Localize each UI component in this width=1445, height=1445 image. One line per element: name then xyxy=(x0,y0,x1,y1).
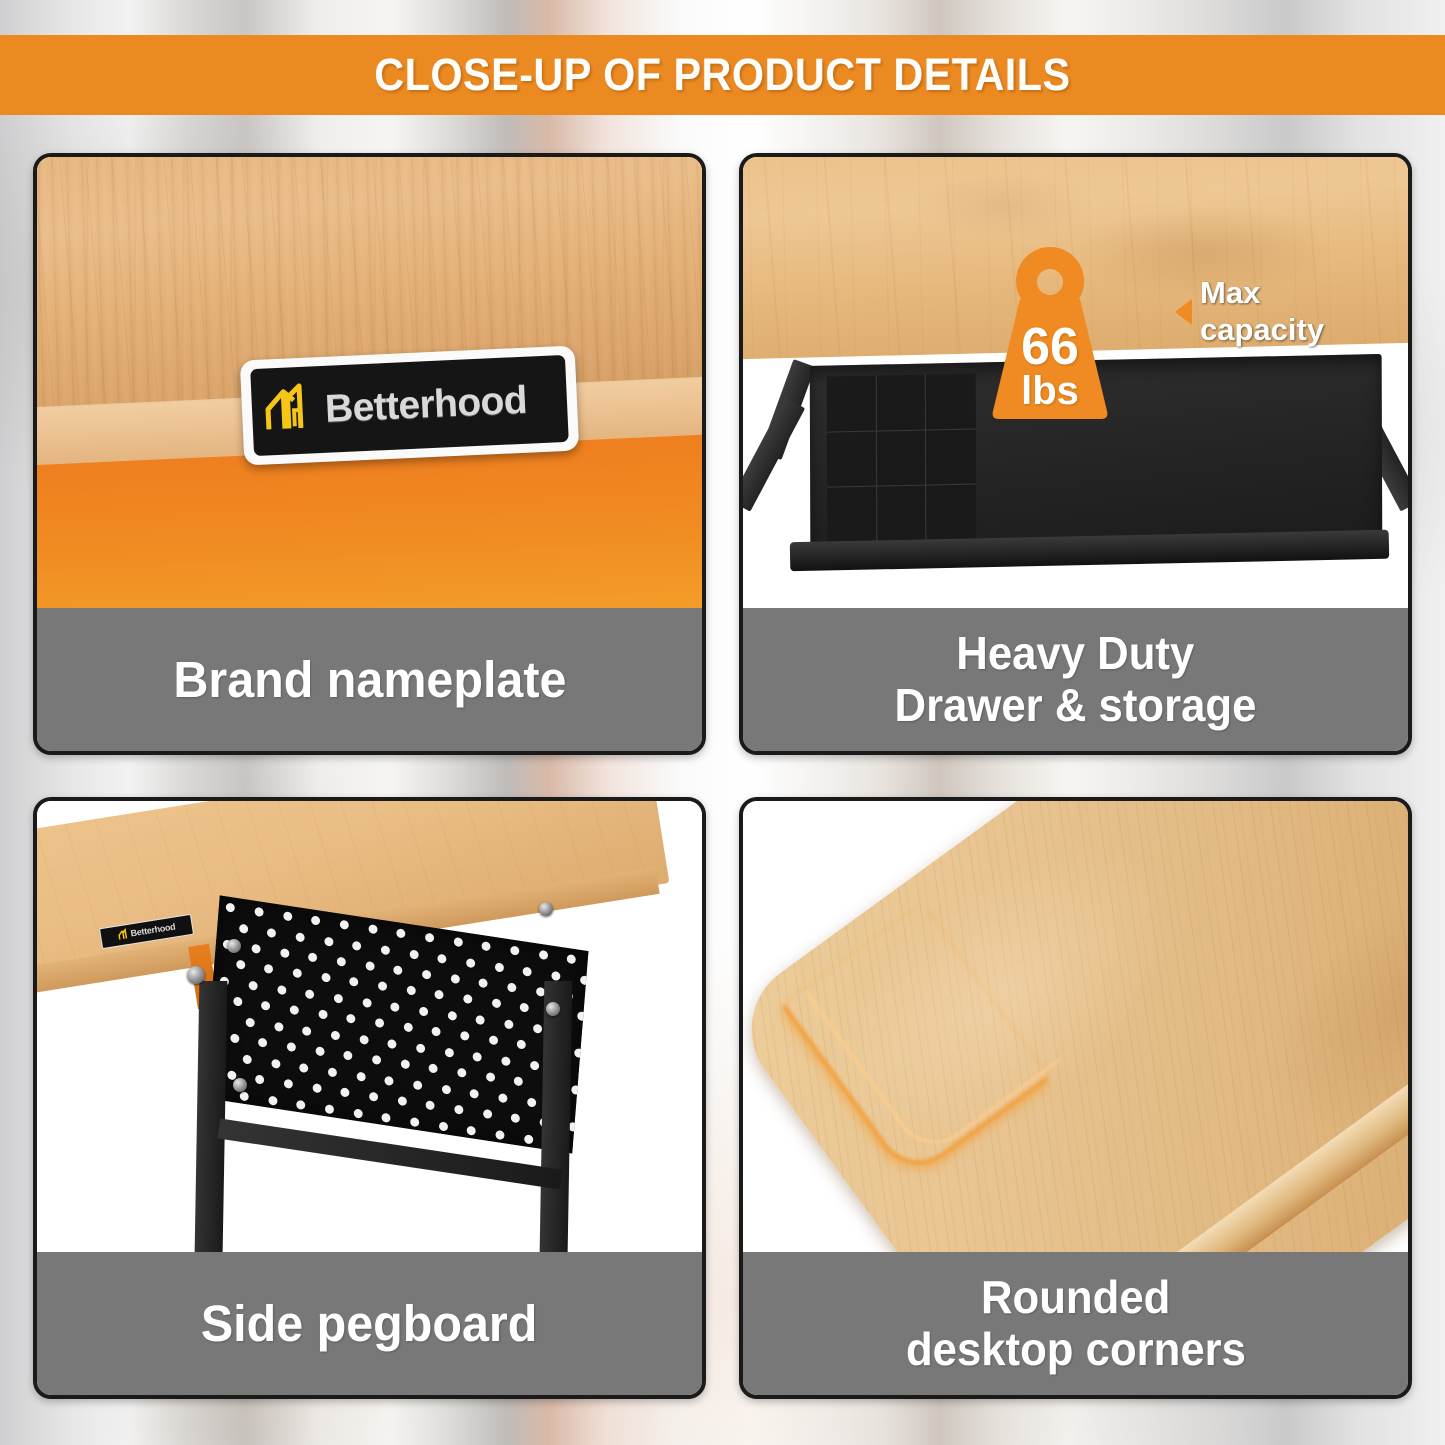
pegboard-hole xyxy=(254,907,264,917)
pegboard-hole xyxy=(365,961,375,971)
pegboard-hole xyxy=(318,1009,328,1019)
pegboard-hole xyxy=(328,1067,338,1077)
pegboard-hole xyxy=(331,1030,341,1040)
pegboard-hole xyxy=(315,1046,325,1056)
pegboard-hole xyxy=(579,974,589,984)
pegboard-hole xyxy=(339,920,349,930)
pegboard-hole xyxy=(251,943,261,953)
hex-bolt-icon xyxy=(187,966,205,984)
pegboard-hole xyxy=(453,937,463,947)
pegboard-hole xyxy=(410,1116,420,1126)
pegboard-hole xyxy=(283,1079,293,1089)
pegboard-hole xyxy=(346,1014,356,1024)
pegboard-hole xyxy=(478,978,488,988)
pegboard-hole xyxy=(406,985,416,995)
pegboard-hole xyxy=(349,977,359,987)
drawer-compartments xyxy=(826,374,975,544)
pegboard-hole xyxy=(390,1002,400,1012)
pegboard-hole xyxy=(283,911,293,921)
max-capacity-callout: Max capacity xyxy=(1175,275,1324,348)
pegboard-hole xyxy=(494,962,504,972)
pegboard-hole xyxy=(431,1027,441,1037)
panel-pegboard-caption: Side pegboard xyxy=(37,1252,702,1395)
pegboard-hole xyxy=(258,1038,268,1048)
pegboard-hole xyxy=(267,927,277,937)
pegboard-hole xyxy=(511,1113,521,1123)
pegboard-hole xyxy=(369,1091,379,1101)
pegboard-hole xyxy=(416,1043,426,1053)
pegboard-hole xyxy=(308,952,318,962)
pegboard-hole xyxy=(526,1097,536,1107)
pegboard-hole xyxy=(510,945,520,955)
pegboard-hole xyxy=(491,998,501,1008)
pegboard-hole xyxy=(311,915,321,925)
page-title: CLOSE-UP OF PRODUCT DETAILS xyxy=(374,49,1070,101)
pegboard-hole xyxy=(230,1033,240,1043)
pegboard-hole xyxy=(280,948,290,958)
pegboard-hole xyxy=(324,936,334,946)
pegboard-hole xyxy=(573,1048,583,1058)
weight-icon: 66 lbs xyxy=(975,243,1125,423)
max-capacity-line-2: capacity xyxy=(1200,312,1324,349)
pegboard-hole xyxy=(289,1005,299,1015)
pegboard-hole xyxy=(239,1091,249,1101)
house-building-icon xyxy=(263,379,318,442)
pegboard-hole xyxy=(296,1099,306,1109)
bolt-icon xyxy=(546,1002,560,1016)
pegboard-hole xyxy=(419,1006,429,1016)
pegboard-hole xyxy=(517,1039,527,1049)
pegboard-hole xyxy=(466,957,476,967)
nameplate-inner: Betterhood xyxy=(250,355,569,456)
pegboard-hole xyxy=(336,956,346,966)
pegboard-hole xyxy=(362,997,372,1007)
caption-line: Heavy Duty xyxy=(956,629,1194,679)
panel-drawer-caption: Heavy Duty Drawer & storage xyxy=(743,608,1408,751)
pegboard-hole xyxy=(356,1071,366,1081)
pegboard-hole xyxy=(472,1051,482,1061)
pegboard-hole xyxy=(277,985,287,995)
panel-side-pegboard: Betterhood Side pegboard xyxy=(33,797,706,1399)
pegboard-hole xyxy=(271,1058,281,1068)
pegboard-hole xyxy=(413,1080,423,1090)
pegboard-hole xyxy=(463,994,473,1004)
brand-nameplate-plate: Betterhood xyxy=(240,345,579,465)
pegboard-hole xyxy=(485,1072,495,1082)
pegboard-hole xyxy=(368,924,378,934)
pegboard-hole xyxy=(514,1076,524,1086)
pegboard-hole xyxy=(248,980,258,990)
pegboard-hole xyxy=(428,1063,438,1073)
pegboard-hole xyxy=(532,1023,542,1033)
bolt-icon xyxy=(227,939,241,953)
pegboard-hole xyxy=(538,950,548,960)
pegboard-hole xyxy=(498,1092,508,1102)
pegboard-hole xyxy=(333,993,343,1003)
pegboard-hole xyxy=(397,1096,407,1106)
pegboard-hole xyxy=(482,1109,492,1119)
pegboard-hole xyxy=(501,1056,511,1066)
panel-rounded-corners: Rounded desktop corners xyxy=(739,797,1412,1399)
pegboard-hole xyxy=(245,1017,255,1027)
pegboard-hole xyxy=(522,966,532,976)
pegboard-hole xyxy=(409,949,419,959)
pegboard-hole xyxy=(457,1068,467,1078)
pegboard-hole xyxy=(226,902,236,912)
pegboard-panel xyxy=(203,895,588,1153)
caption-line: Brand nameplate xyxy=(173,652,566,707)
weight-value: 66 xyxy=(975,317,1125,377)
pegboard-hole xyxy=(481,941,491,951)
pegboard-hole xyxy=(437,953,447,963)
pegboard-hole xyxy=(475,1015,485,1025)
pegboard-hole xyxy=(299,1062,309,1072)
pegboard-hole xyxy=(434,990,444,1000)
pegboard-hole xyxy=(396,928,406,938)
panel-brand-nameplate: Betterhood Brand nameplate xyxy=(33,153,706,755)
pegboard-hole xyxy=(567,954,577,964)
edge-brand-text: Betterhood xyxy=(130,921,176,938)
pegboard-hole xyxy=(576,1011,586,1021)
pegboard-hole xyxy=(523,1133,533,1143)
pegboard-hole xyxy=(295,931,305,941)
pegboard-hole xyxy=(264,964,274,974)
pegboard-hole xyxy=(381,1112,391,1122)
pegboard-hole xyxy=(255,1074,265,1084)
pegboard-hole xyxy=(467,1125,477,1135)
pegboard-hole xyxy=(551,970,561,980)
pegboard-hole xyxy=(441,1084,451,1094)
pegboard-hole xyxy=(507,982,517,992)
pegboard-hole xyxy=(403,1022,413,1032)
pegboard-hole xyxy=(454,1104,464,1114)
caption-line: Rounded xyxy=(981,1273,1170,1323)
house-building-icon xyxy=(117,928,130,942)
pegboard-hole xyxy=(460,1031,470,1041)
panel-brand-photo: Betterhood xyxy=(37,157,702,608)
pegboard-hole xyxy=(425,932,435,942)
bench-leg-right xyxy=(540,981,573,1252)
weight-unit: lbs xyxy=(975,369,1125,414)
triangle-left-icon xyxy=(1175,299,1192,325)
pegboard-hole xyxy=(470,1088,480,1098)
pegboard-hole xyxy=(400,1059,410,1069)
pegboard-hole xyxy=(352,940,362,950)
pegboard-hole xyxy=(520,1003,530,1013)
pegboard-hole xyxy=(343,1050,353,1060)
pegboard-hole xyxy=(239,923,249,933)
panel-corner-caption: Rounded desktop corners xyxy=(743,1252,1408,1395)
pegboard-hole xyxy=(292,968,302,978)
pegboard-hole xyxy=(529,1060,539,1070)
pegboard-hole xyxy=(393,965,403,975)
pegboard-hole xyxy=(312,1083,322,1093)
panel-heavy-duty-drawer: 66 lbs Max capacity Heavy Duty Drawer & … xyxy=(739,153,1412,755)
pegboard-hole xyxy=(286,1042,296,1052)
pegboard-hole xyxy=(381,944,391,954)
caption-line: Drawer & storage xyxy=(895,681,1257,731)
pegboard-hole xyxy=(375,1018,385,1028)
pegboard-hole xyxy=(425,1100,435,1110)
caption-line: desktop corners xyxy=(905,1325,1245,1375)
pegboard-hole xyxy=(422,969,432,979)
pegboard-hole xyxy=(302,1026,312,1036)
pegboard-hole xyxy=(387,1038,397,1048)
header-banner: CLOSE-UP OF PRODUCT DETAILS xyxy=(0,35,1445,115)
pegboard-hole xyxy=(236,960,246,970)
pegboard-hole xyxy=(305,989,315,999)
brand-name-text: Betterhood xyxy=(324,378,528,431)
pegboard-hole xyxy=(504,1019,514,1029)
panel-corner-photo xyxy=(743,801,1408,1252)
pegboard-hole xyxy=(384,1075,394,1085)
max-capacity-line-1: Max xyxy=(1200,275,1324,312)
pegboard-hole xyxy=(274,1021,284,1031)
panel-drawer-photo: 66 lbs Max capacity xyxy=(743,157,1408,608)
pegboard-hole xyxy=(268,1095,278,1105)
pegboard-hole xyxy=(340,1087,350,1097)
pegboard-hole xyxy=(321,973,331,983)
pegboard-hole xyxy=(261,1001,271,1011)
bolt-icon xyxy=(539,902,553,916)
pegboard-hole xyxy=(242,1054,252,1064)
pegboard-hole xyxy=(488,1035,498,1045)
pegboard-hole xyxy=(438,1121,448,1131)
pegboard-hole xyxy=(353,1108,363,1118)
pegboard-hole xyxy=(570,1085,580,1095)
pegboard-hole xyxy=(444,1047,454,1057)
bench-leg-left xyxy=(194,981,227,1252)
pegboard-hole xyxy=(495,1129,505,1139)
panel-pegboard-photo: Betterhood xyxy=(37,801,702,1252)
pegboard-hole xyxy=(450,973,460,983)
pegboard-hole xyxy=(447,1010,457,1020)
pegboard-hole xyxy=(325,1103,335,1113)
pegboard-hole xyxy=(359,1034,369,1044)
panel-brand-caption: Brand nameplate xyxy=(37,608,702,751)
pegboard-hole xyxy=(378,981,388,991)
caption-line: Side pegboard xyxy=(201,1296,538,1351)
pegboard-hole xyxy=(372,1055,382,1065)
pegboard-hole xyxy=(233,996,243,1006)
